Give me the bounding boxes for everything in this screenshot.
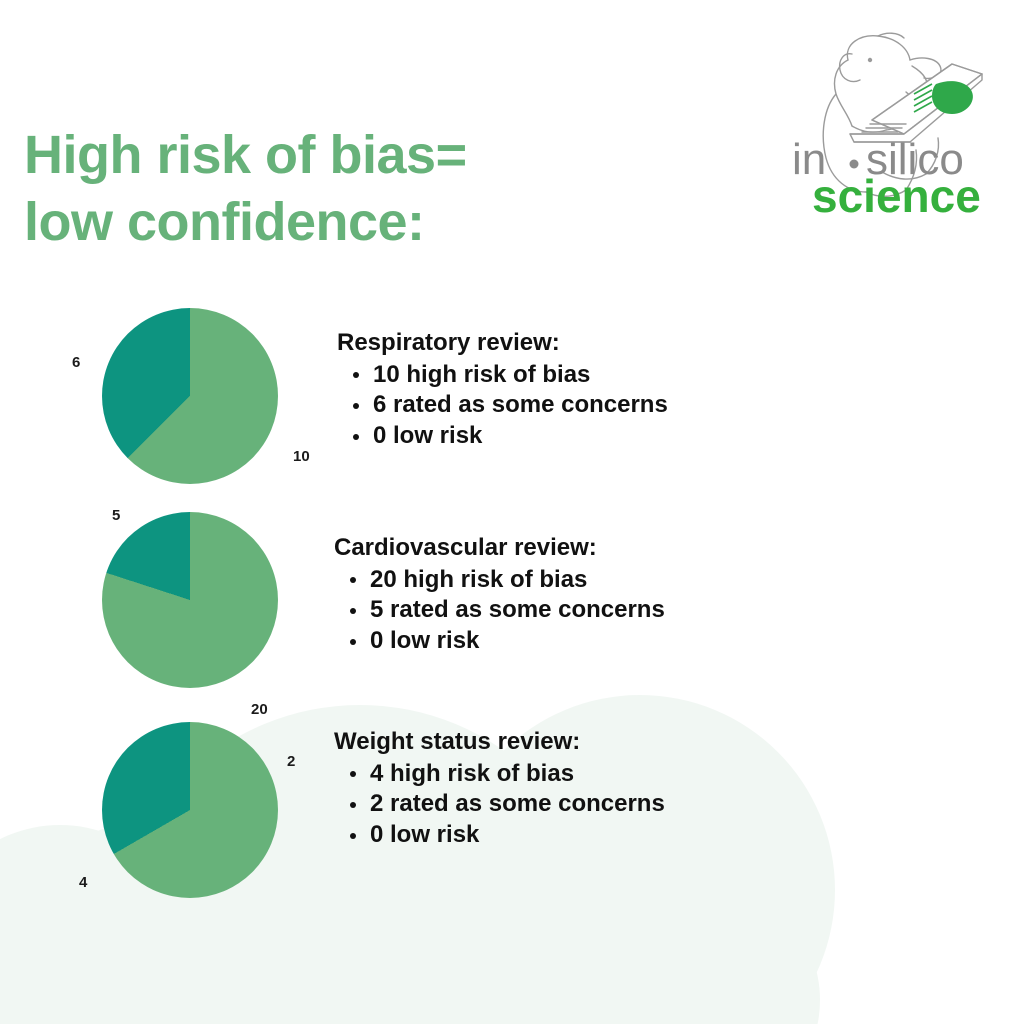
pie-slice-label-some-concerns: 5: [112, 507, 120, 524]
bullet-dot-icon: [350, 577, 356, 583]
pie-chart-weight-status: [102, 722, 278, 898]
bullet-dot-icon: [353, 372, 359, 378]
list-item: 5 rated as some concerns: [334, 595, 665, 626]
list-item-label: 0 low risk: [373, 422, 482, 449]
list-item: 0 low risk: [334, 820, 665, 851]
bullet-dot-icon: [350, 639, 356, 645]
list-item-label: 20 high risk of bias: [370, 566, 587, 593]
page-title: High risk of bias= low confidence:: [24, 122, 644, 256]
review-heading-weight-status: Weight status review:: [334, 727, 665, 758]
review-heading-respiratory: Respiratory review:: [337, 328, 668, 359]
pie-chart-cardiovascular: [102, 512, 278, 688]
list-item: 10 high risk of bias: [337, 360, 668, 391]
list-item: 0 low risk: [337, 421, 668, 452]
review-bullet-list-respiratory: 10 high risk of bias 6 rated as some con…: [337, 360, 668, 452]
list-item-label: 6 rated as some concerns: [373, 391, 668, 418]
list-item: 6 rated as some concerns: [337, 390, 668, 421]
review-block-cardiovascular: Cardiovascular review: 20 high risk of b…: [334, 533, 665, 657]
list-item-label: 5 rated as some concerns: [370, 596, 665, 623]
list-item-label: 4 high risk of bias: [370, 760, 574, 787]
review-bullet-list-weight-status: 4 high risk of bias 2 rated as some conc…: [334, 759, 665, 851]
bullet-dot-icon: [353, 403, 359, 409]
bullet-dot-icon: [350, 833, 356, 839]
bullet-dot-icon: [353, 434, 359, 440]
review-heading-cardiovascular: Cardiovascular review:: [334, 533, 665, 564]
pie-slice-label-some-concerns: 4: [79, 874, 87, 891]
pie-slice-label-some-concerns: 6: [72, 354, 80, 371]
logo-dot: [850, 160, 859, 169]
logo-word-science: science: [812, 170, 981, 217]
pie-slice-label-high-risk: 10: [293, 448, 310, 465]
list-item-label: 2 rated as some concerns: [370, 790, 665, 817]
bullet-dot-icon: [350, 608, 356, 614]
pie-slice-label-high-risk: 2: [287, 753, 295, 770]
review-block-respiratory: Respiratory review: 10 high risk of bias…: [337, 328, 668, 452]
pie-slice-label-high-risk: 20: [251, 701, 268, 718]
list-item-label: 10 high risk of bias: [373, 361, 590, 388]
list-item: 20 high risk of bias: [334, 565, 665, 596]
list-item-label: 0 low risk: [370, 627, 479, 654]
list-item: 0 low risk: [334, 626, 665, 657]
pie-chart-respiratory: [102, 308, 278, 484]
review-bullet-list-cardiovascular: 20 high risk of bias 5 rated as some con…: [334, 565, 665, 657]
review-block-weight-status: Weight status review: 4 high risk of bia…: [334, 727, 665, 851]
slide-canvas: High risk of bias= low confidence:: [0, 0, 1024, 1024]
bullet-dot-icon: [350, 771, 356, 777]
list-item: 2 rated as some concerns: [334, 789, 665, 820]
list-item: 4 high risk of bias: [334, 759, 665, 790]
bullet-dot-icon: [350, 802, 356, 808]
in-silico-science-logo: in silico science: [786, 22, 1006, 217]
list-item-label: 0 low risk: [370, 821, 479, 848]
